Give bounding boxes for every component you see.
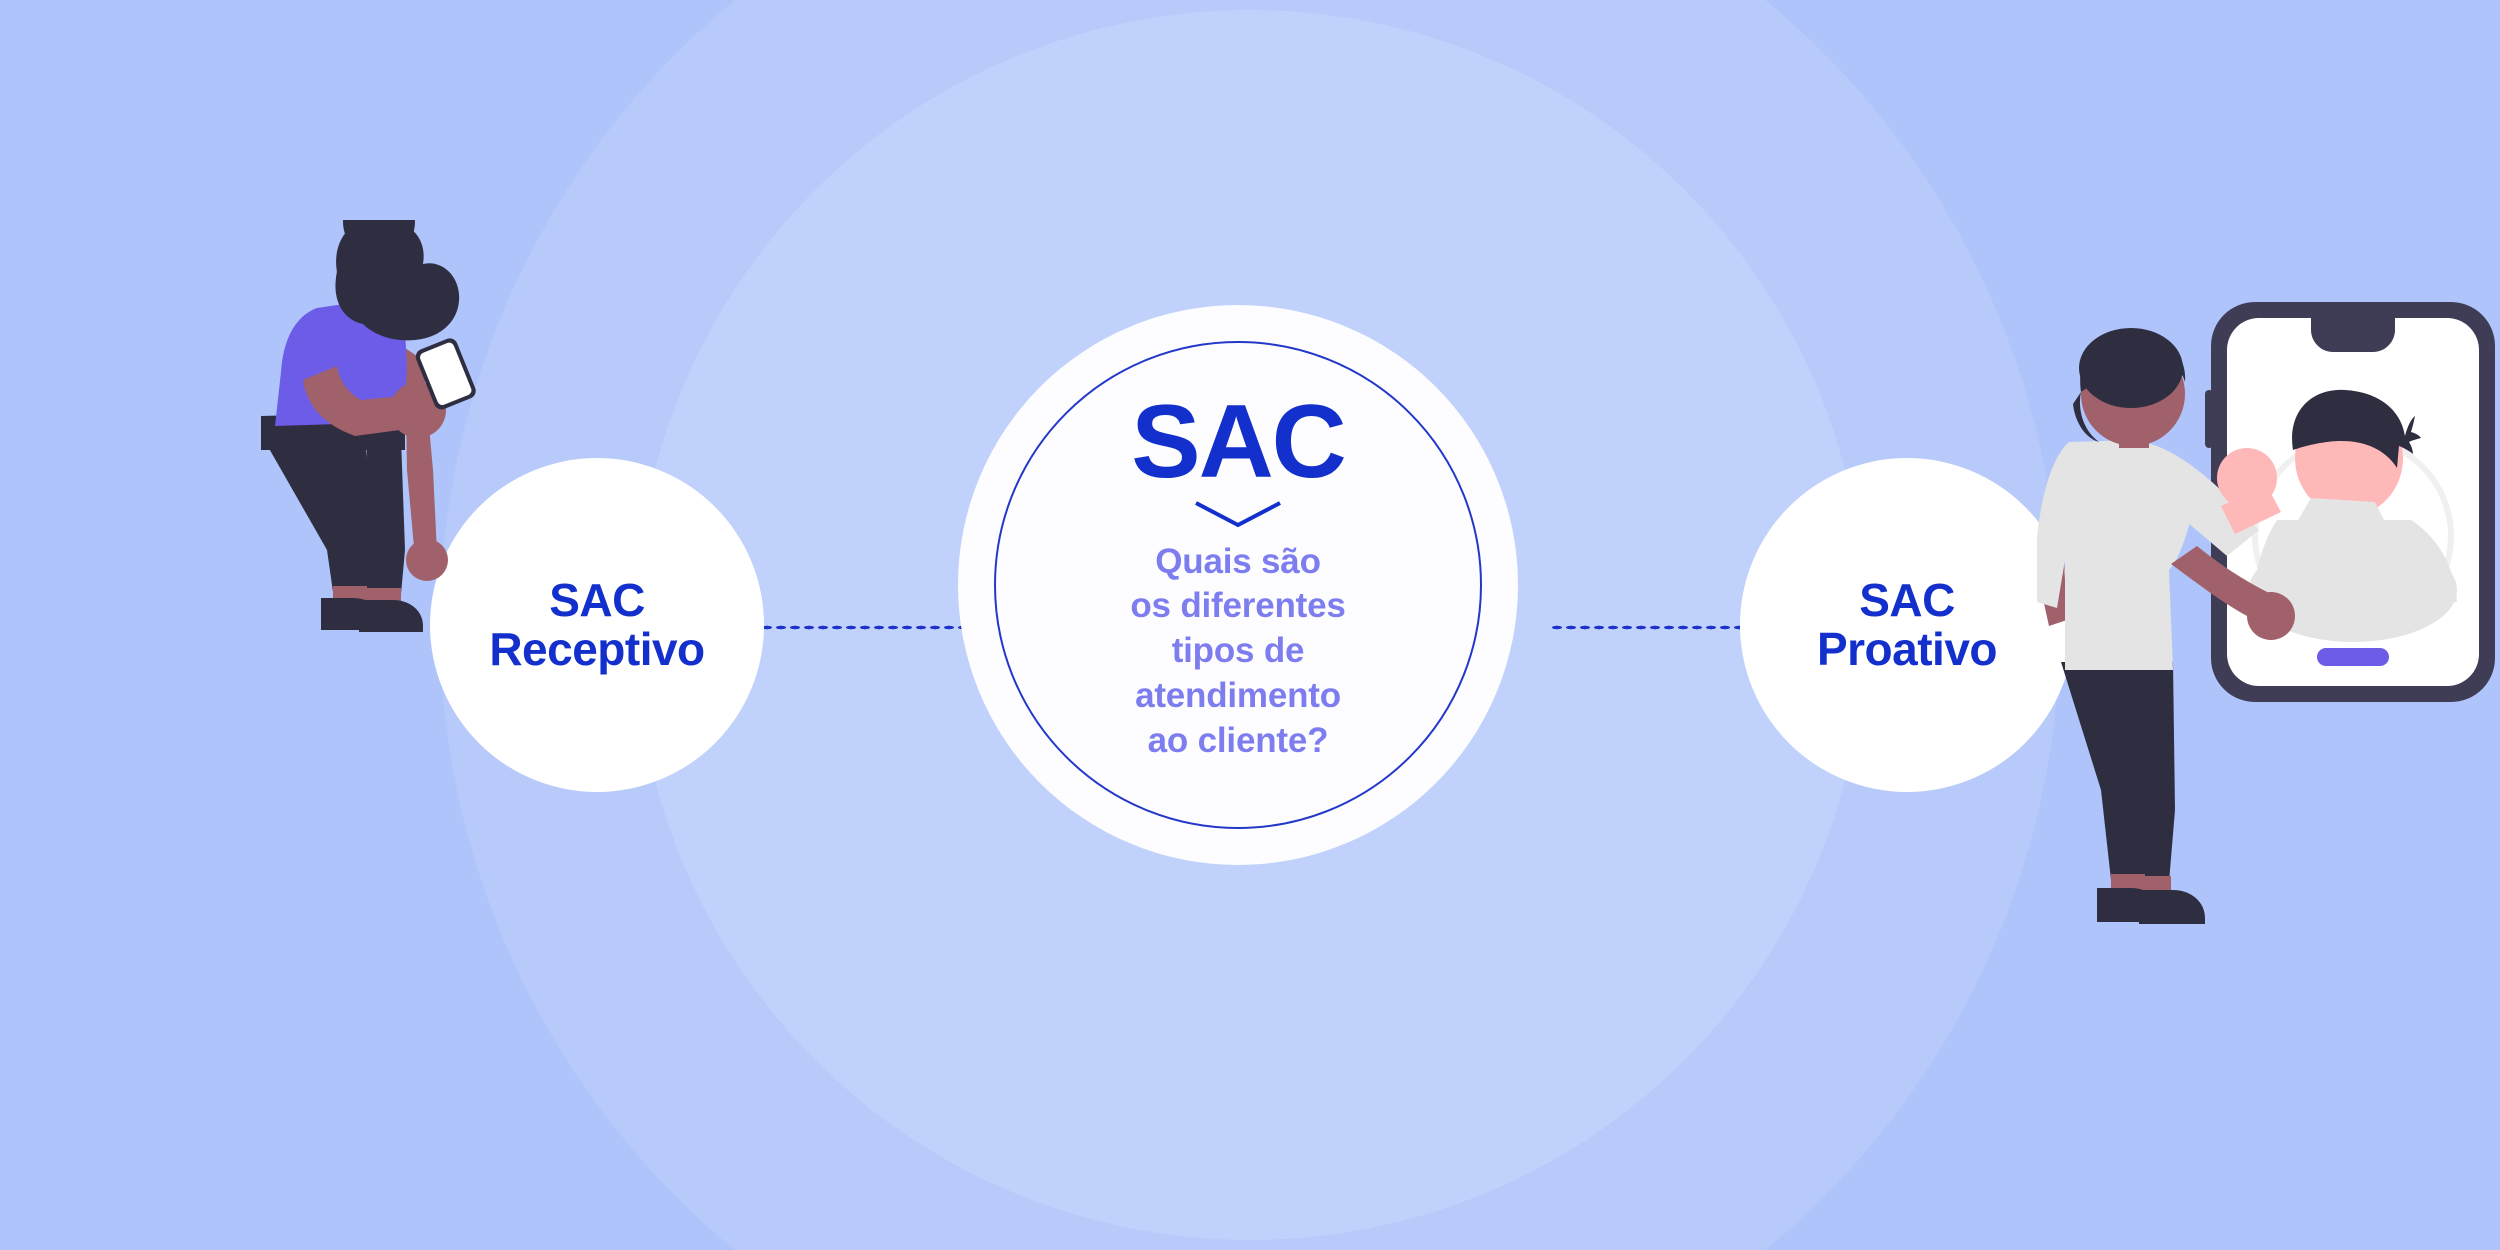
center-inner-ring: SAC Quais são os diferentes tipos de ate… — [994, 341, 1482, 829]
center-question-circle: SAC Quais são os diferentes tipos de ate… — [958, 305, 1518, 865]
center-title: SAC — [1131, 395, 1345, 491]
question-line-3: tipos de — [1130, 629, 1345, 674]
infographic-canvas: SAC Receptivo SAC Proativo SAC Quais são… — [0, 0, 2500, 1250]
node-receptivo-line-1: SAC — [549, 576, 645, 625]
node-proativo-line-2: Proativo — [1817, 625, 1997, 674]
center-question-text: Quais são os diferentes tipos de atendim… — [1130, 540, 1345, 764]
question-line-2: os diferentes — [1130, 584, 1345, 629]
man-touching-phone-illustration — [2015, 290, 2495, 975]
question-line-1: Quais são — [1130, 540, 1345, 585]
question-line-5: ao cliente? — [1130, 719, 1345, 764]
woman-with-phone-illustration — [255, 220, 555, 645]
node-proativo-line-1: SAC — [1859, 576, 1955, 625]
chevron-down-icon — [1192, 499, 1284, 534]
question-line-4: atendimento — [1130, 674, 1345, 719]
